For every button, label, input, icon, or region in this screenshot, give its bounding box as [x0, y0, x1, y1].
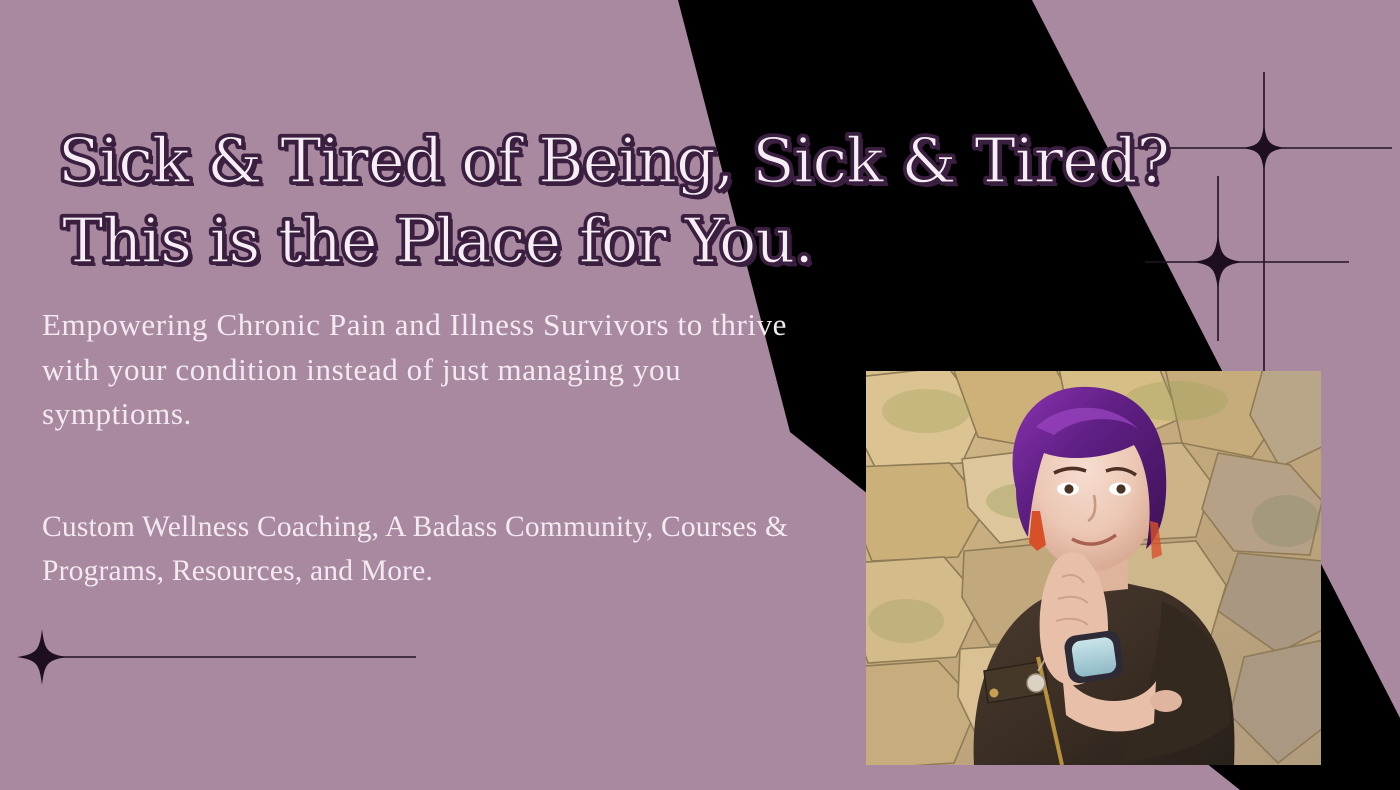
banner-canvas: Sick & Tired of Being, Sick & Tired? Sic…: [0, 0, 1400, 790]
subject-pendant: [1027, 674, 1045, 692]
subject-wristwatch: [1063, 629, 1125, 684]
subject-fingertips: [1150, 690, 1182, 712]
headline-line-1: Sick & Tired of Being, Sick & Tired? Sic…: [58, 124, 1173, 201]
photo-content: [866, 371, 1321, 765]
headline: Sick & Tired of Being, Sick & Tired? Sic…: [46, 52, 1276, 355]
portrait-photo-svg: [866, 371, 1321, 765]
portrait-photo: [866, 371, 1321, 765]
headline-line-2-inner-rule: This is the Place for You.: [62, 204, 813, 277]
headline-line-2: This is the Place for You. This is the P…: [62, 204, 817, 281]
headline-svg: Sick & Tired of Being, Sick & Tired? Sic…: [46, 114, 1286, 294]
headline-line-1-inner-rule: Sick & Tired of Being, Sick & Tired?: [58, 124, 1169, 197]
subject-pocket-button: [990, 689, 999, 698]
offerings-paragraph: Custom Wellness Coaching, A Badass Commu…: [42, 506, 802, 594]
sparkle-icon-bottom-left: [17, 629, 67, 685]
